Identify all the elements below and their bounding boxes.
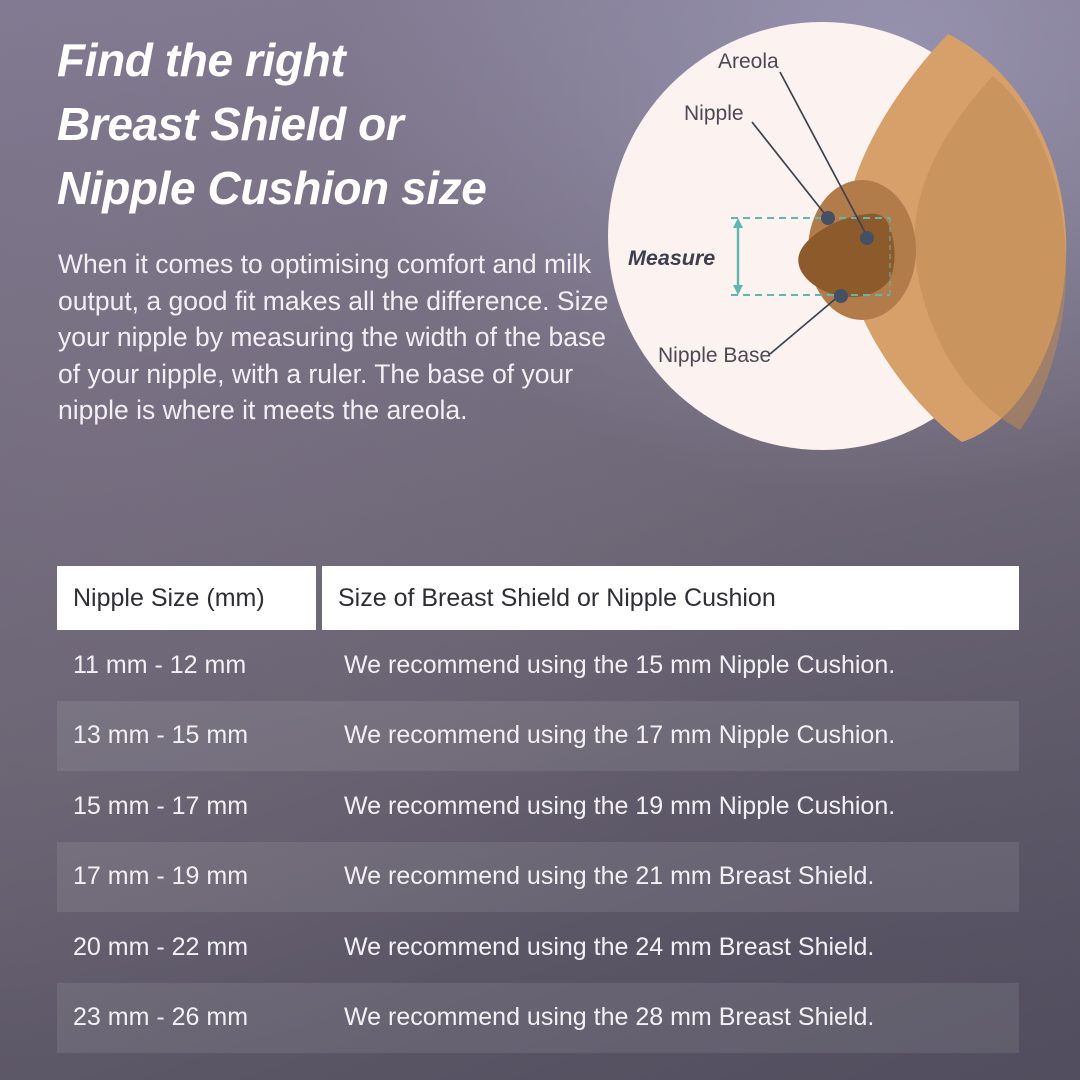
cell-nipple-size: 17 mm - 19 mm bbox=[57, 862, 322, 891]
page-title-line-3: Nipple Cushion size bbox=[57, 157, 627, 221]
column-header-nipple-size: Nipple Size (mm) bbox=[57, 566, 316, 630]
nipple-base-anchor-dot bbox=[834, 289, 848, 303]
table-row: 11 mm - 12 mm We recommend using the 15 … bbox=[57, 630, 1019, 701]
page-title-line-2: Breast Shield or bbox=[57, 93, 627, 157]
cell-nipple-size: 13 mm - 15 mm bbox=[57, 721, 322, 750]
cell-recommendation: We recommend using the 28 mm Breast Shie… bbox=[322, 1003, 1019, 1032]
areola-anchor-dot bbox=[860, 231, 874, 245]
size-guide-table: Nipple Size (mm) Size of Breast Shield o… bbox=[57, 566, 1019, 1053]
cell-recommendation: We recommend using the 17 mm Nipple Cush… bbox=[322, 721, 1019, 750]
page-title-line-1: Find the right bbox=[57, 29, 627, 93]
label-nipple: Nipple bbox=[684, 102, 744, 125]
nipple-anchor-dot bbox=[821, 211, 835, 225]
column-header-recommendation: Size of Breast Shield or Nipple Cushion bbox=[322, 566, 1019, 630]
intro-paragraph: When it comes to optimising comfort and … bbox=[58, 246, 618, 429]
table-row: 20 mm - 22 mm We recommend using the 24 … bbox=[57, 912, 1019, 983]
cell-recommendation: We recommend using the 19 mm Nipple Cush… bbox=[322, 792, 1019, 821]
cell-nipple-size: 20 mm - 22 mm bbox=[57, 933, 322, 962]
cell-recommendation: We recommend using the 24 mm Breast Shie… bbox=[322, 933, 1019, 962]
cell-nipple-size: 11 mm - 12 mm bbox=[57, 651, 322, 680]
label-nipple-base: Nipple Base bbox=[658, 344, 771, 367]
cell-nipple-size: 23 mm - 26 mm bbox=[57, 1003, 322, 1032]
label-areola: Areola bbox=[718, 50, 779, 73]
table-row: 17 mm - 19 mm We recommend using the 21 … bbox=[57, 842, 1019, 913]
cell-nipple-size: 15 mm - 17 mm bbox=[57, 792, 322, 821]
breast-anatomy-diagram: Areola Nipple Nipple Base Measure bbox=[600, 10, 1070, 470]
table-row: 15 mm - 17 mm We recommend using the 19 … bbox=[57, 771, 1019, 842]
table-header-row: Nipple Size (mm) Size of Breast Shield o… bbox=[57, 566, 1019, 630]
label-measure: Measure bbox=[628, 246, 715, 270]
table-body: 11 mm - 12 mm We recommend using the 15 … bbox=[57, 630, 1019, 1053]
page-title: Find the right Breast Shield or Nipple C… bbox=[57, 29, 627, 221]
table-row: 23 mm - 26 mm We recommend using the 28 … bbox=[57, 983, 1019, 1054]
cell-recommendation: We recommend using the 21 mm Breast Shie… bbox=[322, 862, 1019, 891]
cell-recommendation: We recommend using the 15 mm Nipple Cush… bbox=[322, 651, 1019, 680]
table-row: 13 mm - 15 mm We recommend using the 17 … bbox=[57, 701, 1019, 772]
